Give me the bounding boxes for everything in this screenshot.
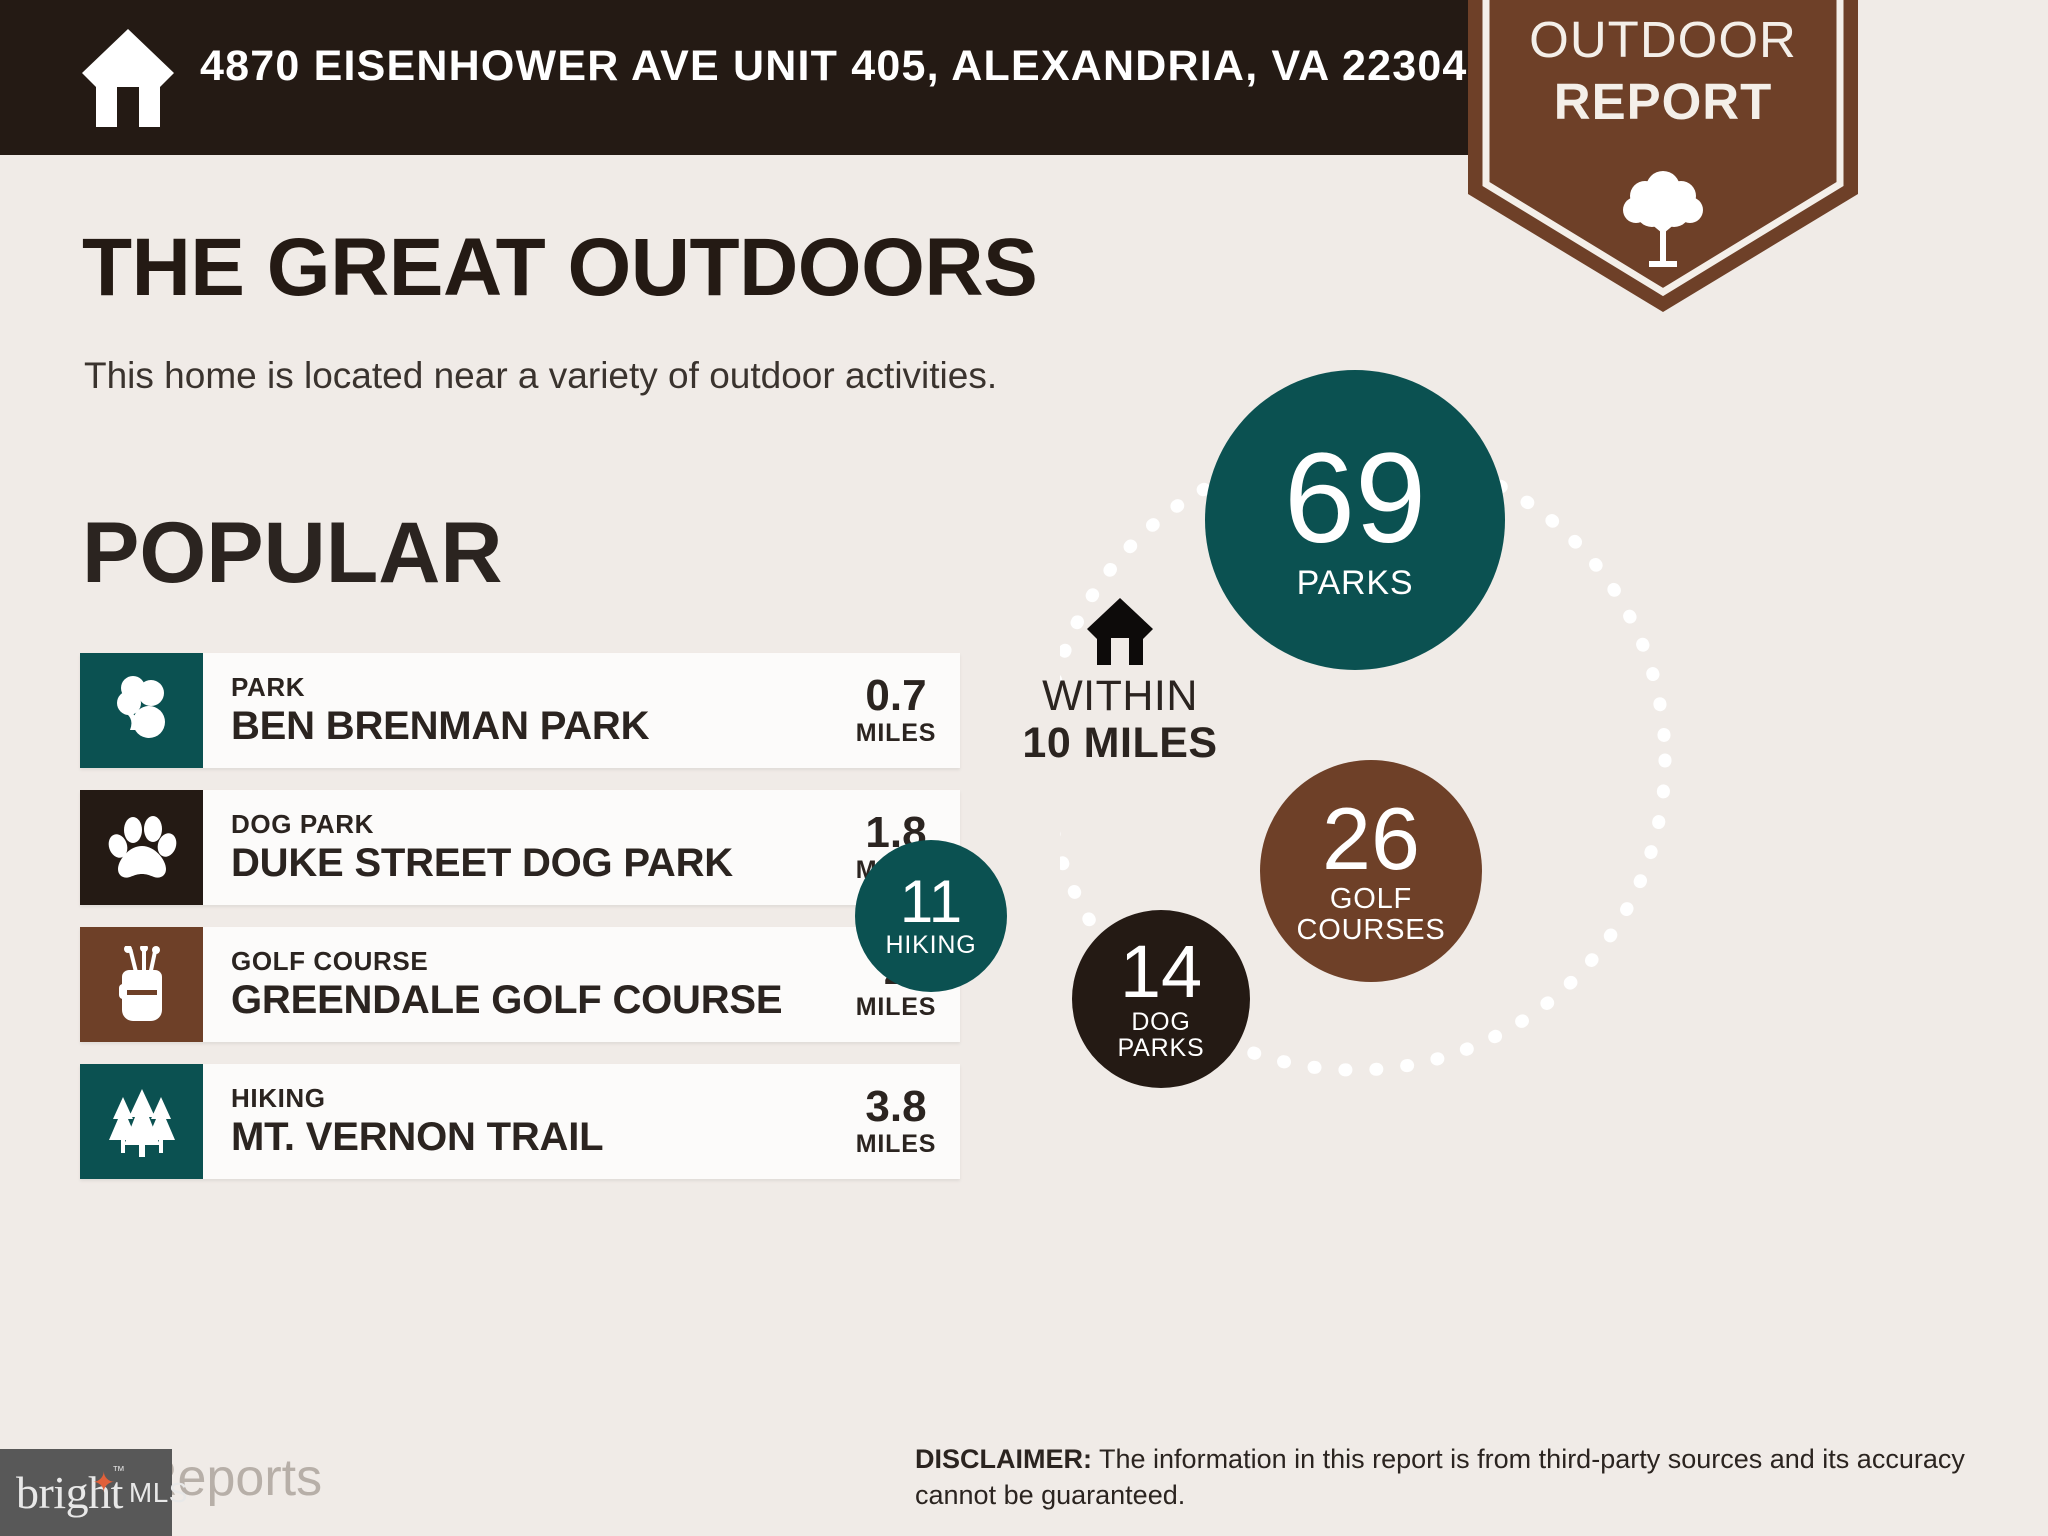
poi-category: DOG PARK (231, 811, 733, 838)
list-item-body: DOG PARK DUKE STREET DOG PARK 1.8 MILES (203, 790, 960, 905)
stat-label: PARKS (1297, 566, 1414, 602)
stat-circle-dog-parks[interactable]: 14 DOG PARKS (1072, 910, 1250, 1088)
list-item-text: PARK BEN BRENMAN PARK (231, 674, 649, 746)
page-title: THE GREAT OUTDOORS (82, 227, 1037, 309)
poi-distance: 3.8 MILES (846, 1085, 946, 1159)
logo-mls-text: MLS (129, 1477, 188, 1509)
header-bar: 4870 EISENHOWER AVE UNIT 405, ALEXANDRIA… (0, 0, 1722, 155)
popular-section-heading: POPULAR (82, 510, 502, 596)
stat-circle-golf-courses[interactable]: 26 GOLF COURSES (1260, 760, 1482, 982)
diagram-center-label: WITHIN 10 MILES (960, 595, 1280, 768)
list-item-body: GOLF COURSE GREENDALE GOLF COURSE 2 MILE… (203, 927, 960, 1042)
stat-circle-hiking[interactable]: 11 HIKING (855, 840, 1007, 992)
poi-distance-unit: MILES (856, 994, 936, 1022)
pine-trees-icon (80, 1064, 203, 1179)
poi-distance-unit: MILES (856, 1131, 936, 1159)
list-item[interactable]: HIKING MT. VERNON TRAIL 3.8 MILES (80, 1064, 960, 1179)
home-icon (78, 25, 178, 130)
paw-print-icon (80, 790, 203, 905)
disclaimer-label: DISCLAIMER: (915, 1444, 1092, 1474)
golf-bag-icon (80, 927, 203, 1042)
property-address: 4870 EISENHOWER AVE UNIT 405, ALEXANDRIA… (200, 42, 1468, 91)
poi-category: GOLF COURSE (231, 948, 782, 975)
popular-poi-list: PARK BEN BRENMAN PARK 0.7 MILES (80, 653, 960, 1201)
list-item-text: GOLF COURSE GREENDALE GOLF COURSE (231, 948, 782, 1020)
amenity-stats-diagram: 69 PARKS 26 GOLF COURSES 14 DOG PARKS 11… (1060, 430, 1960, 1310)
disclaimer: DISCLAIMER: The information in this repo… (915, 1442, 2005, 1513)
list-item[interactable]: DOG PARK DUKE STREET DOG PARK 1.8 MILES (80, 790, 960, 905)
poi-distance-value: 3.8 (865, 1085, 926, 1129)
dotted-ring (1060, 430, 1960, 1310)
stat-value: 69 (1284, 438, 1426, 560)
tree-icon (1623, 162, 1703, 272)
park-tree-icon (80, 653, 203, 768)
poi-name: GREENDALE GOLF COURSE (231, 979, 782, 1021)
outdoor-report-badge: OUTDOOR REPORT (1468, 0, 1858, 312)
poi-name: BEN BRENMAN PARK (231, 705, 649, 747)
within-label: WITHIN (960, 673, 1280, 720)
poi-distance: 0.7 MILES (846, 674, 946, 748)
stat-label: GOLF COURSES (1296, 884, 1445, 945)
trademark-mark: ™ (112, 1463, 125, 1478)
stat-value: 11 (900, 873, 962, 930)
poi-distance-value: 0.7 (865, 674, 926, 718)
stat-label: HIKING (886, 932, 977, 958)
outdoor-report-page: 4870 EISENHOWER AVE UNIT 405, ALEXANDRIA… (0, 0, 2048, 1536)
list-item[interactable]: PARK BEN BRENMAN PARK 0.7 MILES (80, 653, 960, 768)
stat-label: DOG PARKS (1118, 1009, 1205, 1062)
poi-name: MT. VERNON TRAIL (231, 1116, 603, 1158)
poi-distance-unit: MILES (856, 720, 936, 748)
bright-mls-logo[interactable]: bright ✦ ™ MLS (0, 1449, 172, 1536)
badge-line-1: OUTDOOR (1468, 10, 1858, 69)
within-distance: 10 MILES (960, 720, 1280, 767)
poi-name: DUKE STREET DOG PARK (231, 842, 733, 884)
poi-category: PARK (231, 674, 649, 701)
home-icon (1084, 595, 1156, 667)
poi-category: HIKING (231, 1085, 603, 1112)
list-item-text: HIKING MT. VERNON TRAIL (231, 1085, 603, 1157)
stat-value: 14 (1120, 937, 1202, 1007)
page-subtitle: This home is located near a variety of o… (84, 355, 997, 397)
list-item-body: PARK BEN BRENMAN PARK 0.7 MILES (203, 653, 960, 768)
list-item-body: HIKING MT. VERNON TRAIL 3.8 MILES (203, 1064, 960, 1179)
list-item[interactable]: GOLF COURSE GREENDALE GOLF COURSE 2 MILE… (80, 927, 960, 1042)
stat-value: 26 (1322, 797, 1420, 881)
badge-line-2: REPORT (1468, 72, 1858, 131)
list-item-text: DOG PARK DUKE STREET DOG PARK (231, 811, 733, 883)
